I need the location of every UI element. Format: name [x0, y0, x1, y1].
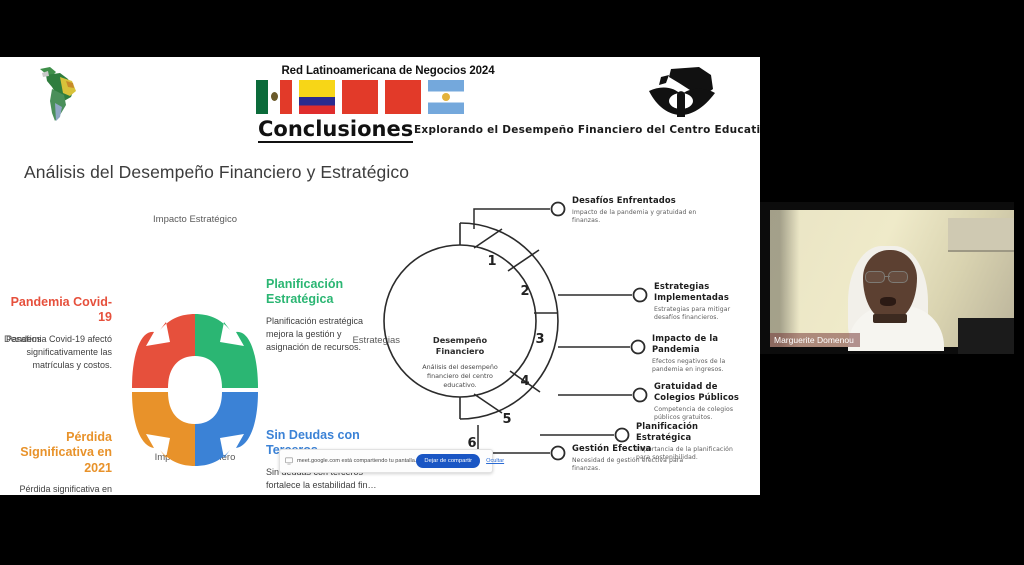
callout-4: Gratuidad de Colegios Públicos Competenc…	[654, 381, 760, 423]
callout-body: Impacto de la pandemia y gratuidad en fi…	[572, 209, 702, 226]
slide-title: Conclusiones	[258, 119, 413, 143]
callout-1: Desafíos Enfrentados Impacto de la pande…	[572, 195, 702, 226]
ceiling-panel	[948, 218, 1024, 252]
participant-name-badge: Marguerite Domenou	[770, 333, 860, 347]
block-heading: Pérdida Significativa en 2021	[0, 430, 112, 476]
eyeglasses-left-lens	[865, 271, 885, 283]
callout-heading: Estrategias Implementadas	[654, 281, 758, 303]
block-perdida-significativa: Pérdida Significativa en 2021 Pérdida si…	[0, 430, 112, 495]
block-body: Pérdida significativa en 2021 refleja de…	[0, 483, 112, 495]
callout-6: Gestión Efectiva Necesidad de gestión ef…	[572, 443, 692, 474]
participant-collar	[873, 314, 907, 323]
flag-colombia	[299, 80, 335, 114]
segment-number-2: 2	[520, 284, 529, 299]
eyeglasses-bridge	[884, 276, 890, 277]
callout-heading: Impacto de la Pandemia	[652, 333, 756, 355]
callout-heading: Gratuidad de Colegios Públicos	[654, 381, 760, 403]
segment-number-4: 4	[520, 374, 529, 389]
screen-share-notification-bar: meet.google.com está compartiendo tu pan…	[279, 449, 493, 473]
meeting-screen: Red Latinoamericana de Negocios 2024 Con…	[0, 0, 1024, 565]
callout-heading: Desafíos Enfrentados	[572, 195, 702, 206]
segment-number-5: 5	[502, 412, 511, 427]
share-message: meet.google.com está compartiendo tu pan…	[297, 458, 416, 464]
eyeglasses-right-lens	[888, 271, 908, 283]
flag-argentina	[428, 80, 464, 114]
segment-number-1: 1	[487, 254, 496, 269]
callout-body: Necesidad de gestión efectiva para finan…	[572, 457, 692, 474]
core-body-line2: financiero del centro	[427, 372, 493, 380]
axis-label-top: Impacto Estratégico	[120, 214, 270, 225]
block-pandemia-covid-19: Pandemia Covid-19 Pandemia Covid-19 afec…	[0, 295, 112, 372]
participant-video-tile[interactable]: Marguerite Domenou	[760, 202, 1024, 354]
callout-2: Estrategias Implementadas Estrategias pa…	[654, 281, 758, 323]
shared-slide: Red Latinoamericana de Negocios 2024 Con…	[0, 57, 760, 495]
segmented-arc-diagram: 1 2 3 4 5 6	[382, 147, 760, 495]
latin-america-map-icon	[22, 63, 92, 125]
callout-3: Impacto de la Pandemia Efectos negativos…	[652, 333, 756, 375]
flag-peru	[342, 80, 378, 114]
block-planificacion-estrategica: Planificación Estratégica Planificación …	[266, 277, 386, 354]
block-heading: Planificación Estratégica	[266, 277, 386, 308]
block-body: Planificación estratégica mejora la gest…	[266, 315, 386, 354]
core-title-line1: Desempeño	[433, 335, 488, 345]
hide-link[interactable]: Ocultar	[486, 458, 504, 464]
stop-sharing-button[interactable]: Dejar de compartir	[416, 454, 480, 468]
core-title-line2: Financiero	[436, 346, 485, 356]
callout-heading: Planificación Estratégica	[636, 421, 744, 443]
core-body-line3: educativo.	[443, 381, 476, 389]
letterbox-right	[1014, 0, 1024, 565]
segment-number-3: 3	[535, 332, 544, 347]
flag-mexico	[256, 80, 292, 114]
network-emblem-icon	[635, 65, 727, 123]
core-body-line1: Análisis del desempeño	[422, 363, 498, 371]
slide-network-name: Red Latinoamericana de Negocios 2024	[278, 65, 498, 77]
four-quadrant-cycle-diagram	[130, 312, 260, 470]
share-screen-icon	[285, 457, 293, 465]
section-title: Análisis del Desempeño Financiero y Estr…	[24, 162, 409, 183]
flag-row	[256, 80, 464, 114]
callout-body: Efectos negativos de la pandemia en ingr…	[652, 358, 756, 375]
flag-peru-2	[385, 80, 421, 114]
slide-subtitle: Explorando el Desempeño Financiero del C…	[414, 124, 760, 136]
block-heading: Pandemia Covid-19	[0, 295, 112, 326]
participant-mouth	[880, 297, 896, 306]
participant-face	[863, 250, 917, 320]
callout-body: Estrategias para mitigar desafíos financ…	[654, 306, 758, 323]
block-body: Pandemia Covid-19 afectó significativame…	[0, 333, 112, 372]
callout-heading: Gestión Efectiva	[572, 443, 692, 454]
